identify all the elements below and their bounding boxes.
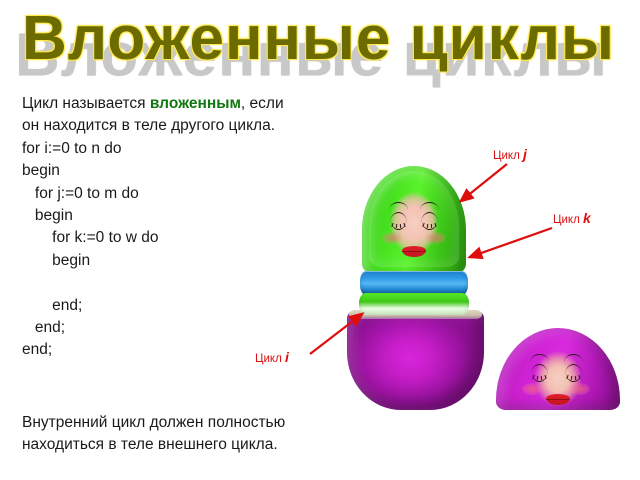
callout-i-text: Цикл — [255, 353, 282, 365]
purple-outer-shell — [347, 310, 484, 410]
matryoshka-illustration — [340, 130, 640, 390]
green-doll-lash-5 — [422, 223, 424, 227]
callout-label-k: Цикл k — [553, 210, 591, 226]
green-skirt-rim — [359, 293, 469, 315]
body-line-2: он находится в теле другого цикла. — [22, 115, 352, 137]
purple-doll-brow-left — [530, 354, 549, 362]
purple-doll-lips — [546, 394, 570, 405]
callout-label-i: Цикл i — [255, 349, 289, 365]
callout-k-text: Цикл — [553, 214, 580, 226]
purple-doll-brow-right — [564, 354, 583, 362]
green-doll-lash-3 — [400, 224, 402, 228]
code-line-for-i: for i:=0 to n do — [22, 138, 352, 160]
callout-label-j: Цикл j — [493, 146, 527, 162]
purple-doll-lash-3 — [541, 376, 543, 380]
purple-doll-lash-7 — [575, 376, 577, 380]
green-doll-cheek-left — [382, 232, 402, 244]
code-line-blank — [22, 272, 352, 294]
green-doll-lash-6 — [427, 224, 429, 228]
purple-doll-eye-right — [565, 364, 582, 375]
keyword-nested: вложенным — [150, 95, 241, 112]
code-line-begin-k: begin — [22, 250, 352, 272]
conclusion-line-2: находиться в теле внешнего цикла. — [22, 434, 382, 456]
code-line-end-j: end; — [22, 317, 352, 339]
purple-doll-cheek-left — [522, 383, 542, 395]
callout-j-variable: j — [523, 146, 527, 162]
green-doll-lips — [402, 246, 426, 257]
body-line-1-suffix: , если — [241, 95, 284, 112]
code-line-begin-j: begin — [22, 205, 352, 227]
code-line-for-j: for j:=0 to m do — [22, 183, 352, 205]
green-doll-eye-right — [421, 212, 438, 223]
code-line-begin-i: begin — [22, 160, 352, 182]
green-doll-brow-right — [420, 202, 439, 210]
green-doll-lash-7 — [431, 224, 433, 228]
slide-title-area: Вложенные циклы Вложенные циклы — [0, 0, 640, 88]
code-line-for-k: for k:=0 to w do — [22, 227, 352, 249]
purple-detached-top — [496, 328, 620, 410]
code-line-end-k: end; — [22, 295, 352, 317]
green-doll-brow-left — [389, 202, 408, 210]
green-doll-cheek-right — [426, 232, 446, 244]
purple-doll-cheek-right — [570, 383, 590, 395]
green-doll-lash-8 — [434, 223, 436, 227]
blue-band — [360, 271, 468, 295]
green-doll-eye-left — [390, 212, 407, 223]
green-doll-lash-1 — [391, 223, 393, 227]
body-line-1-prefix: Цикл называется — [22, 95, 150, 112]
green-doll-lash-2 — [396, 224, 398, 228]
callout-k-variable: k — [583, 210, 591, 226]
conclusion-line-1: Внутренний цикл должен полностью — [22, 412, 382, 434]
callout-i-variable: i — [285, 349, 289, 365]
page-title: Вложенные циклы — [22, 2, 640, 76]
callout-j-text: Цикл — [493, 150, 520, 162]
code-line-end-i: end; — [22, 339, 352, 361]
green-doll-lash-4 — [403, 223, 405, 227]
green-doll-head — [362, 166, 466, 276]
lesson-body-text: Цикл называется вложенным, если он наход… — [22, 93, 352, 362]
purple-doll-eye-left — [531, 364, 548, 375]
conclusion-text: Внутренний цикл должен полностью находит… — [22, 412, 382, 457]
body-line-1: Цикл называется вложенным, если — [22, 93, 352, 115]
